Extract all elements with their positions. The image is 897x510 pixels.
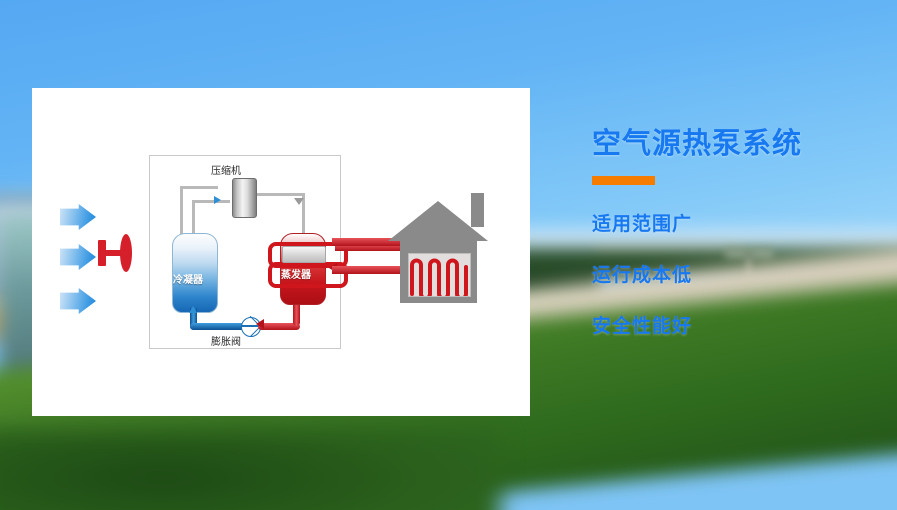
- text-column: 空气源热泵系统 适用范围广 运行成本低 安全性能好: [592, 120, 892, 338]
- airflow-arrow-1: [60, 204, 96, 230]
- house-return-pipe: [332, 266, 408, 274]
- flow-arrow-condenser-icon: [189, 306, 197, 313]
- page-title: 空气源热泵系统: [592, 120, 892, 162]
- pipe-suction-top: [180, 186, 218, 189]
- floor-heating-coil: [408, 253, 470, 296]
- slide-canvas: 压缩机 冷凝器: [0, 0, 897, 510]
- flow-arrow-discharge-icon: [294, 198, 304, 205]
- compressor-unit: [232, 178, 257, 218]
- feature-item-3: 安全性能好: [592, 311, 892, 338]
- pipe-suction-up: [180, 186, 183, 236]
- refrigeration-cycle-diagram: 压缩机 冷凝器: [149, 155, 341, 349]
- title-underline: [592, 176, 655, 185]
- feature-item-1: 适用范围广: [592, 209, 892, 236]
- airflow-arrow-2: [60, 244, 96, 270]
- condenser-label: 冷凝器: [173, 271, 203, 286]
- pipe-discharge-top: [255, 193, 305, 196]
- fan-blade-icon: [120, 234, 132, 272]
- illustration-panel: 压缩机 冷凝器: [32, 88, 530, 416]
- background-grass-shadow: [0, 430, 500, 510]
- feature-item-2: 运行成本低: [592, 260, 892, 287]
- compressor-label: 压缩机: [211, 162, 241, 177]
- flow-arrow-suction-icon: [214, 196, 221, 204]
- airflow-arrow-3: [60, 288, 96, 314]
- house-roof: [388, 201, 488, 241]
- expansion-valve-label: 膨胀阀: [211, 333, 241, 348]
- heat-exchanger-plate: [282, 246, 326, 263]
- flow-arrow-valve-icon: [256, 319, 264, 329]
- pipe-suction-branch: [192, 200, 195, 236]
